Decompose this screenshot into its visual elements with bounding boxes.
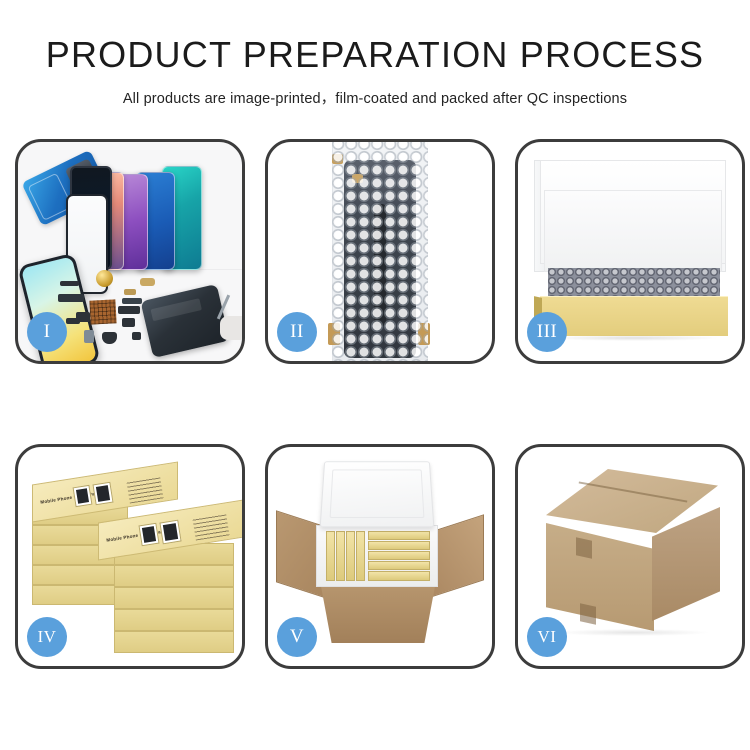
component-chip-icon <box>132 332 141 340</box>
copper-grid-pad-icon <box>89 299 116 324</box>
yellow-box-item <box>368 541 430 550</box>
printed-screen-image <box>73 485 93 507</box>
yellow-box-item <box>326 531 335 581</box>
carton-left-face <box>546 523 654 631</box>
drop-shadow <box>548 335 720 341</box>
yellow-box-tray-icon <box>540 296 728 336</box>
page-title: PRODUCT PREPARATION PROCESS <box>0 36 750 74</box>
component-chip-icon <box>60 281 79 286</box>
process-panel-grid: I II III <box>0 139 750 694</box>
packing-tape-strip <box>580 603 596 624</box>
header: PRODUCT PREPARATION PROCESS All products… <box>0 0 750 108</box>
component-chip-icon <box>66 318 80 324</box>
yellow-box-item <box>368 571 430 581</box>
packing-tape-strip <box>576 537 592 558</box>
printed-screen-image <box>138 523 159 547</box>
stacked-box-side <box>114 565 234 587</box>
panel-badge-2: II <box>277 312 317 352</box>
component-chip-icon <box>122 318 135 327</box>
stacked-box-side <box>114 587 234 609</box>
process-panel-2: II <box>265 139 495 364</box>
process-panel-4: Mobile Phone Spare Parts Mobile Phone Sp… <box>15 444 245 669</box>
process-panel-3: III <box>515 139 745 364</box>
process-panel-6: VI <box>515 444 745 669</box>
process-panel-5: V <box>265 444 495 669</box>
drop-shadow <box>558 629 708 636</box>
flex-cable-icon <box>58 294 84 302</box>
printed-screen-image <box>159 520 181 545</box>
yellow-box-item <box>346 531 355 581</box>
tweezers-in-hand-icon <box>208 294 245 340</box>
stacked-box-side <box>114 609 234 631</box>
process-panel-1: I <box>15 139 245 364</box>
panel-badge-1: I <box>27 312 67 352</box>
component-chip-icon <box>118 306 140 314</box>
yellow-boxes-group <box>326 531 430 581</box>
carton-right-flap <box>430 514 484 598</box>
panel-badge-6: VI <box>527 617 567 657</box>
yellow-box-item <box>356 531 365 581</box>
hand-shape <box>220 316 245 340</box>
flex-cable-icon <box>122 298 142 304</box>
panel-badge-3: III <box>527 312 567 352</box>
gold-coil-icon <box>96 270 113 287</box>
stacked-box-side <box>114 631 234 653</box>
yellow-box-item <box>368 561 430 570</box>
styrofoam-lid-icon <box>320 461 435 527</box>
white-foam-sheet-icon <box>544 190 722 272</box>
bubble-texture-overlay <box>332 139 428 364</box>
yellow-box-item <box>368 551 430 560</box>
panel-badge-5: V <box>277 617 317 657</box>
component-chip-icon <box>124 289 136 295</box>
component-chip-icon <box>84 330 94 343</box>
yellow-box-item <box>368 531 430 540</box>
component-chip-icon <box>102 332 117 344</box>
kraft-carton-body <box>320 581 436 643</box>
printed-screen-image <box>92 482 113 506</box>
panel-badge-4: IV <box>27 617 67 657</box>
page-subtitle: All products are image-printed，film-coat… <box>0 87 750 108</box>
component-chip-icon <box>140 278 155 286</box>
yellow-box-item <box>336 531 345 581</box>
